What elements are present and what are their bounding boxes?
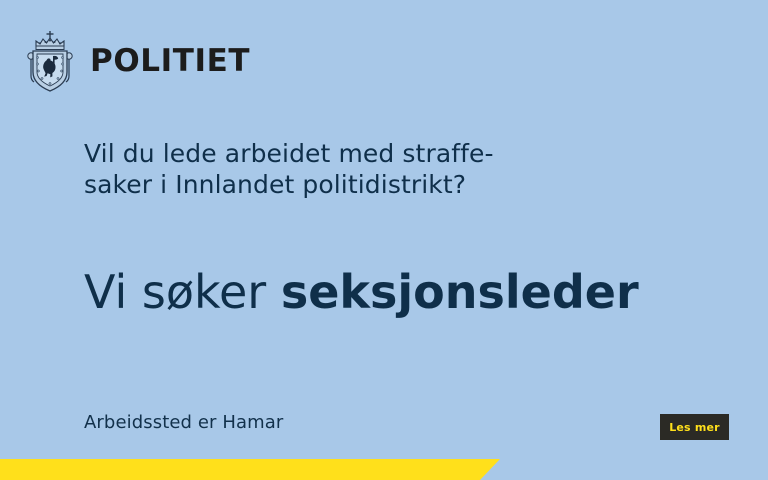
statement-role-text: seksjonsleder bbox=[281, 265, 639, 319]
brand-lockup: POLITIET bbox=[24, 30, 250, 92]
footer-accent-stripe bbox=[0, 459, 500, 480]
statement-lead-text: Vi søker bbox=[84, 265, 281, 319]
les-mer-button[interactable]: Les mer bbox=[660, 414, 729, 440]
statement-line: Vi søker seksjonsleder bbox=[84, 266, 724, 318]
politiet-wordmark: POLITIET bbox=[90, 46, 250, 77]
norwegian-coat-of-arms-icon bbox=[24, 30, 76, 92]
question-headline: Vil du lede arbeidet med straffe- saker … bbox=[84, 138, 684, 200]
main-statement: Vi søker seksjonsleder bbox=[84, 266, 724, 318]
question-line-2: saker i Innlandet politidistrikt? bbox=[84, 169, 684, 200]
recruitment-ad-banner: POLITIET Vil du lede arbeidet med straff… bbox=[0, 0, 768, 480]
work-location-text: Arbeidssted er Hamar bbox=[84, 412, 283, 433]
les-mer-button-label: Les mer bbox=[669, 422, 720, 433]
question-line-1: Vil du lede arbeidet med straffe- bbox=[84, 138, 684, 169]
